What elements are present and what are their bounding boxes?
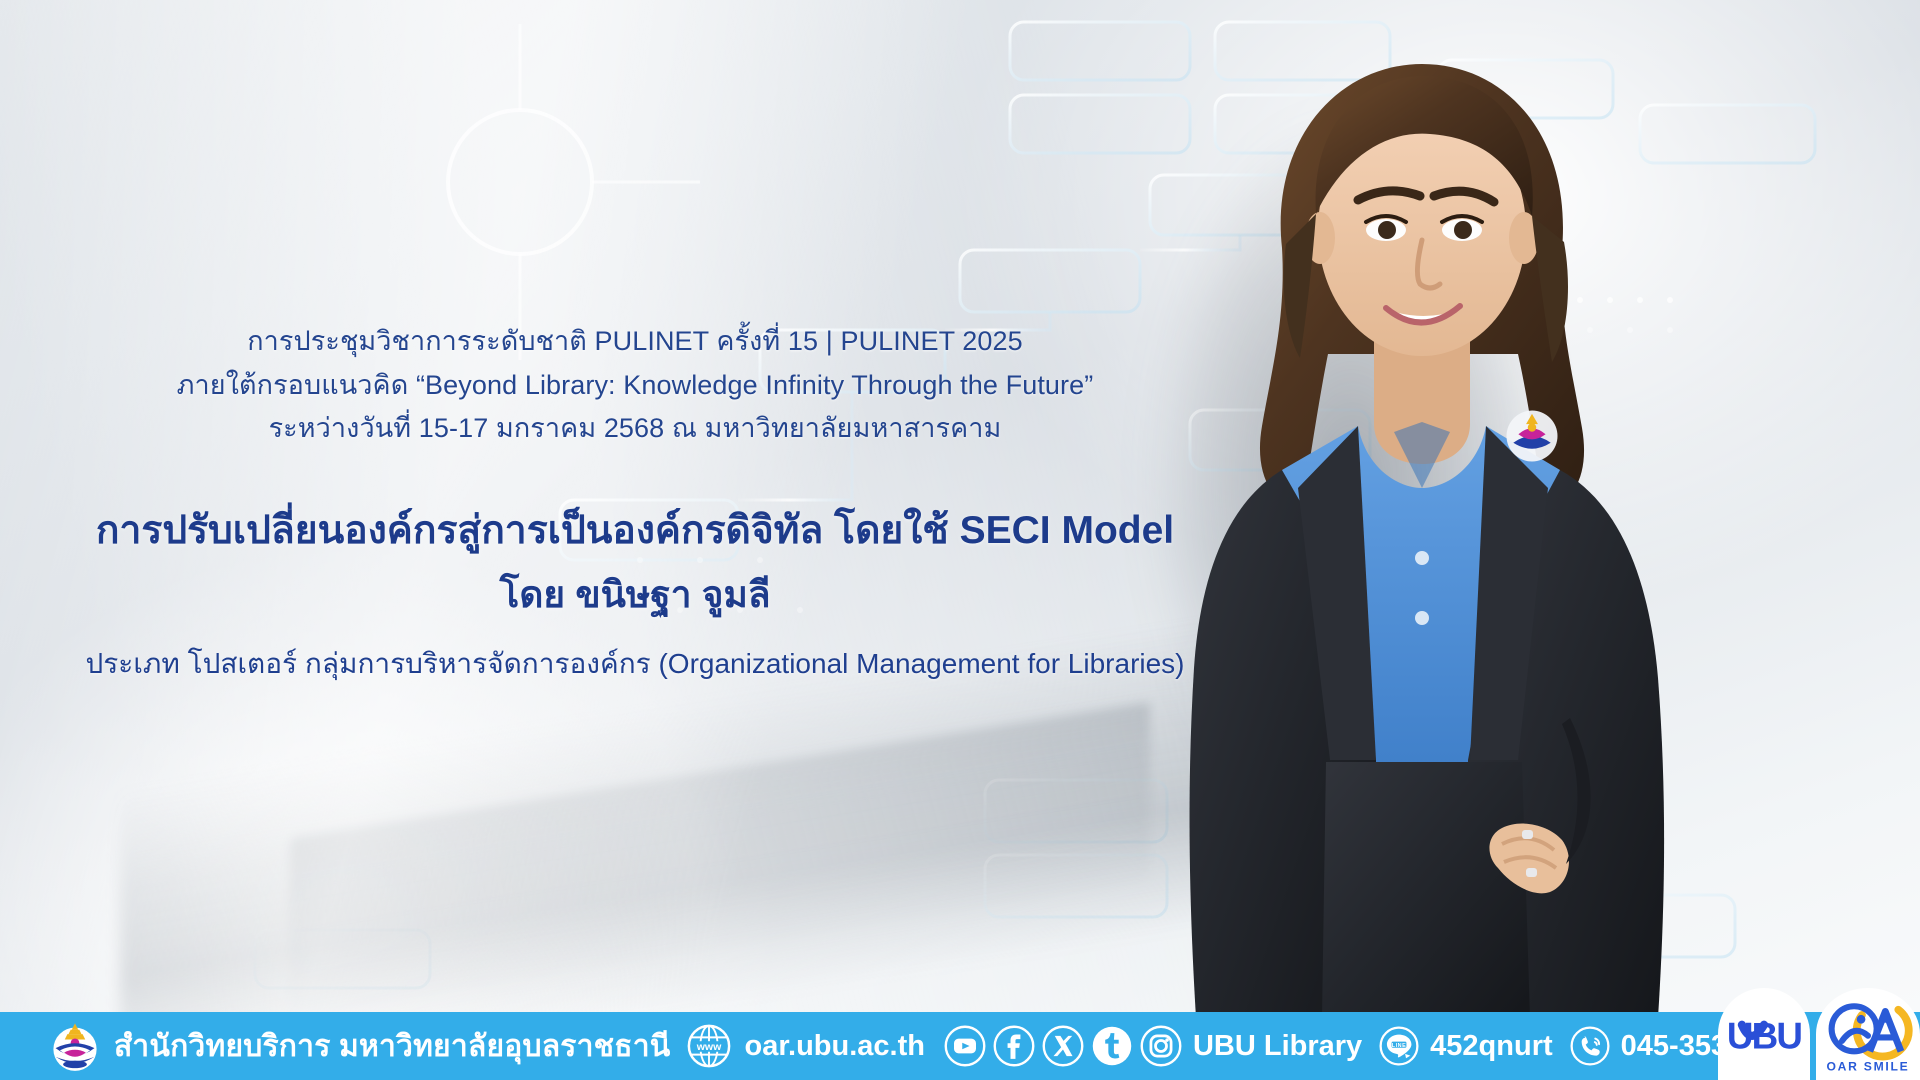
footer-contact-bar: สำนักวิทยบริการ มหาวิทยาลัยอุบลราชธานี w… bbox=[0, 1012, 1920, 1080]
conference-line-2: ภายใต้กรอบแนวคิด “Beyond Library: Knowle… bbox=[0, 364, 1270, 408]
social-icon-group bbox=[943, 1024, 1183, 1068]
presentation-category: ประเภท โปสเตอร์ กลุ่มการบริหารจัดการองค์… bbox=[0, 645, 1270, 683]
ubu-university-emblem-icon bbox=[48, 1019, 102, 1073]
footer-social-handle[interactable]: UBU Library bbox=[1193, 1030, 1362, 1063]
footer-logo-group: UBU OAR SMILE bbox=[1718, 988, 1920, 1080]
oar-smile-logo: OAR SMILE bbox=[1816, 988, 1920, 1080]
presentation-author: โดย ขนิษฐา จูมลี bbox=[0, 571, 1270, 619]
tumblr-icon[interactable] bbox=[1090, 1024, 1134, 1068]
youtube-icon[interactable] bbox=[943, 1024, 987, 1068]
svg-text:LINE: LINE bbox=[1392, 1043, 1406, 1049]
conference-line-1: การประชุมวิชาการระดับชาติ PULINET ครั้งท… bbox=[0, 320, 1270, 364]
globe-www-icon[interactable]: www bbox=[686, 1023, 732, 1069]
facebook-icon[interactable] bbox=[992, 1024, 1036, 1068]
presentation-title: การปรับเปลี่ยนองค์กรสู่การเป็นองค์กรดิจิ… bbox=[0, 505, 1270, 556]
svg-text:OAR SMILE: OAR SMILE bbox=[1827, 1059, 1910, 1073]
line-chat-icon[interactable]: LINE bbox=[1378, 1025, 1420, 1067]
conference-line-3: ระหว่างวันที่ 15-17 มกราคม 2568 ณ มหาวิท… bbox=[0, 407, 1270, 451]
phone-call-icon[interactable] bbox=[1569, 1025, 1611, 1067]
footer-website-url[interactable]: oar.ubu.ac.th bbox=[744, 1030, 924, 1063]
footer-organization-name: สำนักวิทยบริการ มหาวิทยาลัยอุบลราชธานี bbox=[114, 1023, 670, 1070]
ubu-wordmark-logo: UBU bbox=[1718, 988, 1810, 1080]
instagram-icon[interactable] bbox=[1139, 1024, 1183, 1068]
x-twitter-icon[interactable] bbox=[1041, 1024, 1085, 1068]
svg-text:www: www bbox=[696, 1041, 722, 1053]
footer-line-id[interactable]: 452qnurt bbox=[1430, 1030, 1552, 1063]
poster-banner: การประชุมวิชาการระดับชาติ PULINET ครั้งท… bbox=[0, 0, 1920, 1080]
poster-text-block: การประชุมวิชาการระดับชาติ PULINET ครั้งท… bbox=[0, 320, 1270, 683]
